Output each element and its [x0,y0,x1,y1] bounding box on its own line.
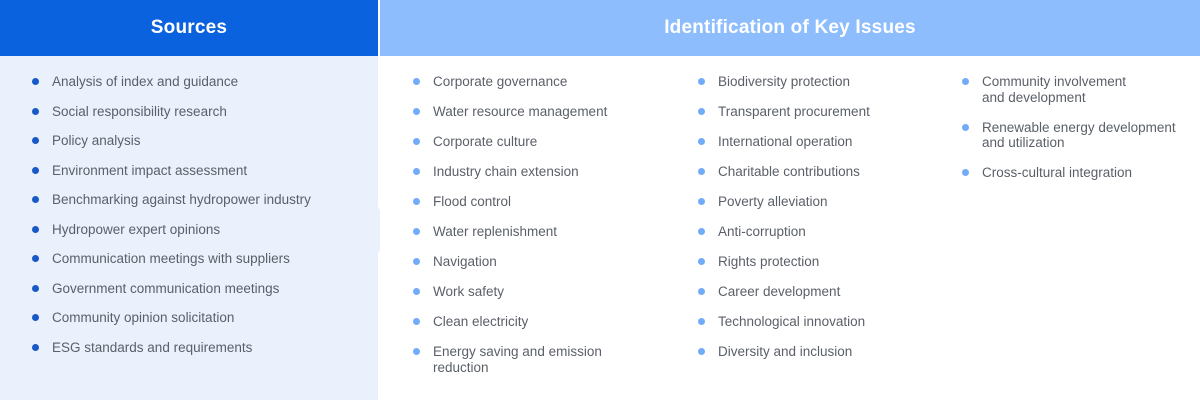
list-item: International operation [698,134,953,150]
list-item: Environment impact assessment [30,163,370,178]
bullet-dot-icon [962,78,969,85]
bullet-dot-icon [413,108,420,115]
bullet-dot-icon [698,258,705,265]
list-item-label: Environment impact assessment [52,163,247,178]
list-item-label: Technological innovation [718,314,865,329]
list-item: Corporate governance [413,74,691,90]
bullet-dot-icon [413,168,420,175]
bullet-dot-icon [698,168,705,175]
sources-header: Sources [0,0,378,56]
list-item-label: Cross-cultural integration [982,165,1132,180]
list-item: Analysis of index and guidance [30,74,370,89]
list-item: Community involvementand development [962,74,1199,105]
bullet-dot-icon [32,108,39,115]
list-item-label: Clean electricity [433,314,528,329]
list-item-label-line2: reduction [433,360,691,376]
list-item: Water replenishment [413,224,691,240]
list-item: Diversity and inclusion [698,344,953,360]
list-item: Hydropower expert opinions [30,222,370,237]
list-item: Technological innovation [698,314,953,330]
list-item-label: Biodiversity protection [718,74,850,89]
list-item-label: Career development [718,284,840,299]
list-item-label: Industry chain extension [433,164,579,179]
list-item: Corporate culture [413,134,691,150]
key-issues-title: Identification of Key Issues [664,17,916,39]
list-item-label: Energy saving and emission [433,344,602,359]
bullet-dot-icon [413,138,420,145]
bullet-dot-icon [962,169,969,176]
list-item: Water resource management [413,104,691,120]
bullet-dot-icon [698,198,705,205]
list-item: Biodiversity protection [698,74,953,90]
bullet-dot-icon [413,228,420,235]
list-item: Transparent procurement [698,104,953,120]
bullet-dot-icon [32,226,39,233]
list-item-label-line2: and development [982,90,1199,106]
list-item-label: Benchmarking against hydropower industry [52,192,311,207]
list-item-label: Water replenishment [433,224,557,239]
bullet-dot-icon [413,198,420,205]
list-item: Navigation [413,254,691,270]
bullet-dot-icon [413,348,420,355]
list-item-label: Corporate culture [433,134,537,149]
bullet-dot-icon [698,228,705,235]
bullet-dot-icon [413,258,420,265]
list-item: Rights protection [698,254,953,270]
list-item-label: ESG standards and requirements [52,340,252,355]
bullet-dot-icon [32,78,39,85]
bullet-dot-icon [698,348,705,355]
list-item: Communication meetings with suppliers [30,251,370,266]
list-item-label: Policy analysis [52,133,141,148]
list-item: Government communication meetings [30,281,370,296]
bullet-dot-icon [413,318,420,325]
list-item-label: Community opinion solicitation [52,310,234,325]
list-item-label: Analysis of index and guidance [52,74,238,89]
key-issues-column-1: Corporate governance Water resource mana… [413,74,691,390]
list-item-label: Renewable energy development [982,120,1176,135]
list-item-label: Communication meetings with suppliers [52,251,290,266]
list-item-label: Government communication meetings [52,281,279,296]
key-issues-panel: Identification of Key Issues Corporate g… [380,0,1200,400]
list-item: Social responsibility research [30,104,370,119]
bullet-dot-icon [32,196,39,203]
list-item: Anti-corruption [698,224,953,240]
list-item-label: International operation [718,134,852,149]
list-item: Community opinion solicitation [30,310,370,325]
bullet-dot-icon [32,344,39,351]
bullet-dot-icon [413,288,420,295]
list-item: Charitable contributions [698,164,953,180]
sources-title: Sources [151,17,227,39]
bullet-dot-icon [698,108,705,115]
list-item-label: Flood control [433,194,511,209]
list-item-label: Transparent procurement [718,104,870,119]
bullet-dot-icon [698,318,705,325]
key-issues-column-3: Community involvementand development Ren… [962,74,1199,390]
list-item-label: Charitable contributions [718,164,860,179]
list-item-label: Water resource management [433,104,607,119]
list-item-label-line2: and utilization [982,135,1199,151]
list-item-label: Poverty alleviation [718,194,828,209]
bullet-dot-icon [32,314,39,321]
list-item: Industry chain extension [413,164,691,180]
list-item-label: Navigation [433,254,497,269]
list-item-label: Community involvement [982,74,1126,89]
list-item: Work safety [413,284,691,300]
list-item-label: Social responsibility research [52,104,227,119]
bullet-dot-icon [413,78,420,85]
key-issues-header: Identification of Key Issues [380,0,1200,56]
bullet-dot-icon [698,78,705,85]
list-item-label: Work safety [433,284,504,299]
bullet-dot-icon [32,167,39,174]
list-item: Energy saving and emissionreduction [413,344,691,375]
list-item: Policy analysis [30,133,370,148]
infographic-root: Sources Analysis of index and guidance S… [0,0,1200,400]
list-item: Career development [698,284,953,300]
list-item: Renewable energy developmentand utilizat… [962,120,1199,151]
bullet-dot-icon [32,137,39,144]
sources-panel: Sources Analysis of index and guidance S… [0,0,378,400]
list-item: Poverty alleviation [698,194,953,210]
list-item: Cross-cultural integration [962,165,1199,181]
list-item-label: Corporate governance [433,74,567,89]
list-item-label: Anti-corruption [718,224,806,239]
bullet-dot-icon [698,138,705,145]
list-item: Benchmarking against hydropower industry [30,192,370,207]
list-item-label: Hydropower expert opinions [52,222,220,237]
list-item: Clean electricity [413,314,691,330]
bullet-dot-icon [698,288,705,295]
sources-list: Analysis of index and guidance Social re… [30,74,370,369]
list-item: Flood control [413,194,691,210]
key-issues-columns: Corporate governance Water resource mana… [380,74,1200,390]
list-item-label: Diversity and inclusion [718,344,852,359]
bullet-dot-icon [962,124,969,131]
list-item-label: Rights protection [718,254,819,269]
key-issues-column-2: Biodiversity protection Transparent proc… [698,74,953,390]
bullet-dot-icon [32,285,39,292]
bullet-dot-icon [32,255,39,262]
list-item: ESG standards and requirements [30,340,370,355]
